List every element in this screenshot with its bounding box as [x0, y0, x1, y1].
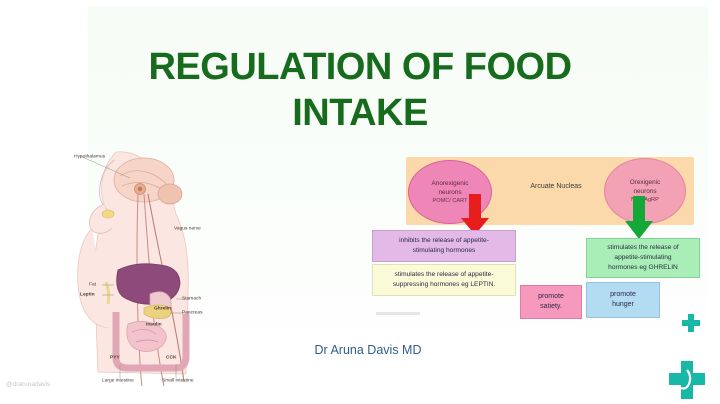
green-down-arrow-icon — [624, 196, 654, 240]
box-ghrelin-line-1: stimulates the release of — [607, 243, 678, 253]
box-leptin-line-1: stimulates the release of appetite- — [395, 270, 494, 280]
anatomy-label-hypothalamus: Hypothalamus — [74, 153, 105, 158]
anatomy-label-pyy: PYY — [110, 354, 120, 359]
orexigenic-line-2: neurons — [633, 187, 656, 196]
orexigenic-line-1: Orexigenic — [630, 178, 661, 187]
anatomy-label-large-intestine: Large intestine — [102, 377, 134, 382]
human-anatomy-illustration: Hypothalamus Vagus nerve Fat Leptin Stom… — [58, 142, 206, 390]
anatomy-label-ghrelin: Ghrelin — [154, 305, 171, 310]
medical-cross-icon — [680, 312, 702, 334]
arcuate-nucleus-diagram: Arcuate Nucleas Anorexigenic neurons POM… — [398, 152, 700, 342]
box-satiety-line-1: promote — [538, 292, 564, 302]
anatomy-label-pancreas: Pancreas — [182, 309, 203, 314]
anatomy-label-insulin: Insulin — [146, 321, 162, 326]
anorexigenic-line-1: Anorexigenic — [432, 179, 469, 188]
anatomy-label-vagus-nerve: Vagus nerve — [174, 225, 201, 230]
box-promote-satiety: promote satiety. — [520, 285, 582, 319]
anatomy-label-fat: Fat — [89, 281, 96, 286]
anatomy-label-stomach: Stomach — [182, 295, 201, 300]
anatomy-figure-icon — [58, 142, 206, 390]
anatomy-label-small-intestine: Small intestine — [162, 377, 194, 382]
box-promote-hunger: promote hunger — [586, 282, 660, 318]
anorexigenic-line-2: neurons — [438, 188, 461, 197]
box-inhibits-line-2: stimulating hormones — [413, 246, 476, 256]
title-line-1: REGULATION OF FOOD — [148, 46, 571, 88]
arcuate-nucleus-label: Arcuate Nucleas — [506, 183, 606, 190]
presentation-slide: REGULATION OF FOOD INTAKE — [0, 0, 720, 404]
page-title: REGULATION OF FOOD INTAKE — [100, 44, 620, 136]
box-leptin-line-2: suppressing hormones eg LEPTIN. — [393, 280, 496, 290]
box-hunger-line-1: promote — [610, 290, 636, 300]
anatomy-label-cck: CCK — [166, 354, 177, 359]
box-inhibits-line-1: inhibits the release of appetite- — [399, 236, 489, 246]
box-inhibits-appetite-stimulating: inhibits the release of appetite- stimul… — [372, 230, 516, 262]
box-hunger-line-2: hunger — [612, 300, 634, 310]
diagram-caption-rule — [376, 312, 420, 315]
box-stimulates-ghrelin: stimulates the release of appetite-stimu… — [586, 238, 700, 278]
author-name: Dr Aruna Davis MD — [238, 343, 498, 357]
medical-cross-logo-icon — [668, 360, 706, 400]
box-ghrelin-line-2: appetite-stimulating — [614, 253, 671, 263]
watermark: @drarunadavis — [6, 381, 50, 388]
anatomy-label-leptin: Leptin — [80, 291, 95, 296]
box-satiety-line-2: satiety. — [540, 302, 562, 312]
box-ghrelin-line-3: hormones eg GHRELIN — [608, 263, 678, 273]
box-stimulates-leptin: stimulates the release of appetite- supp… — [372, 264, 516, 296]
title-line-2: INTAKE — [100, 90, 620, 136]
